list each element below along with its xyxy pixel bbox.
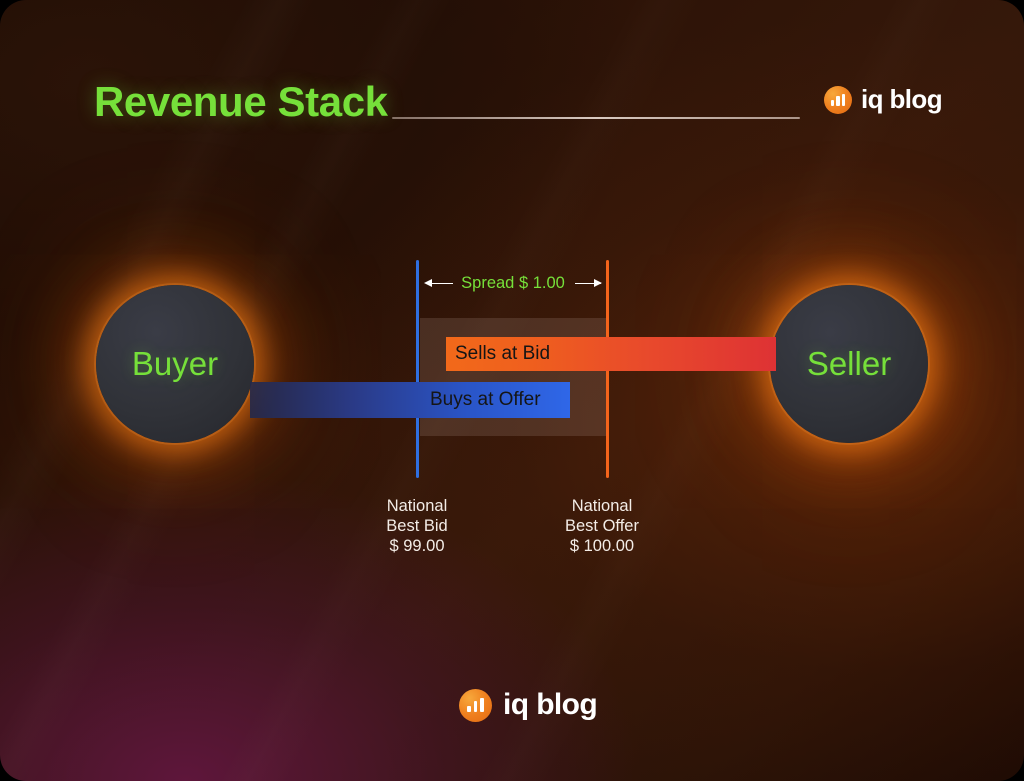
nbb-line1: National bbox=[332, 496, 502, 516]
nbo-line2: Best Offer bbox=[517, 516, 687, 536]
title-divider bbox=[392, 117, 800, 119]
spread-label: Spread $ 1.00 bbox=[461, 274, 565, 293]
national-best-offer-caption: National Best Offer $ 100.00 bbox=[517, 496, 687, 556]
flow-buys-at-offer-label: Buys at Offer bbox=[430, 389, 541, 411]
seller-node: Seller bbox=[770, 285, 928, 443]
flow-buys-at-offer: Buys at Offer bbox=[250, 382, 570, 418]
arrow-right-icon bbox=[572, 278, 602, 289]
flow-sells-at-bid-label: Sells at Bid bbox=[455, 343, 550, 365]
national-best-bid-caption: National Best Bid $ 99.00 bbox=[332, 496, 502, 556]
footer-logo: iq blog bbox=[459, 688, 597, 722]
page-title: Revenue Stack bbox=[94, 78, 388, 126]
nbb-price: $ 99.00 bbox=[332, 536, 502, 556]
bar-chart-icon bbox=[824, 86, 852, 114]
header-logo-text: iq blog bbox=[861, 84, 942, 115]
header-logo: iq blog bbox=[824, 84, 942, 115]
footer-logo-text: iq blog bbox=[503, 688, 597, 722]
flow-sells-at-bid: Sells at Bid bbox=[446, 337, 776, 371]
nbb-line2: Best Bid bbox=[332, 516, 502, 536]
arrow-left-icon bbox=[424, 278, 454, 289]
buyer-label: Buyer bbox=[132, 345, 218, 383]
spread-band bbox=[420, 318, 607, 436]
buyer-node: Buyer bbox=[96, 285, 254, 443]
nbo-price: $ 100.00 bbox=[517, 536, 687, 556]
nbo-line1: National bbox=[517, 496, 687, 516]
seller-label: Seller bbox=[807, 345, 891, 383]
bar-chart-icon bbox=[459, 689, 492, 722]
spread-measure: Spread $ 1.00 bbox=[420, 271, 606, 295]
infographic-canvas: Revenue Stack iq blog Buyer Seller Sprea… bbox=[0, 0, 1024, 781]
national-best-bid-line bbox=[416, 260, 419, 478]
